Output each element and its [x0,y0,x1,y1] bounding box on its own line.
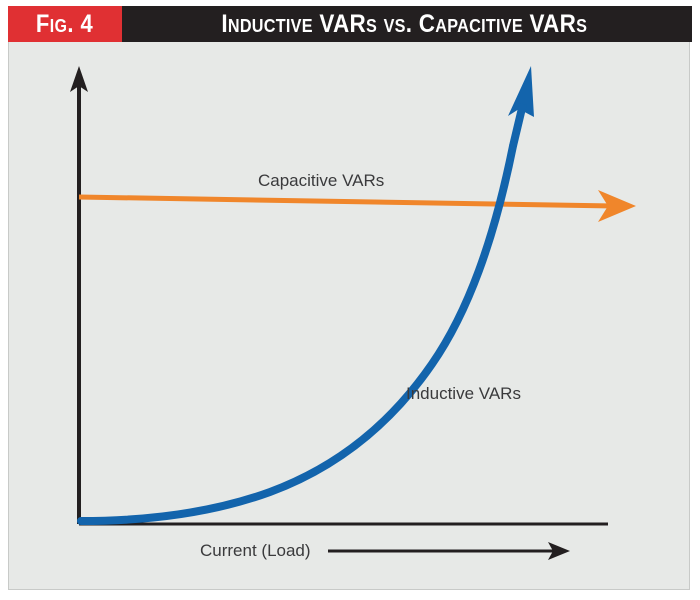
capacitive-vars-label: Capacitive VARs [258,172,384,189]
x-axis-label: Current (Load) [200,542,311,559]
figure-title: Inductive VARs vs. Capacitive VARs [221,12,587,37]
figure-title-bar: Fig. 4 Inductive VARs vs. Capacitive VAR… [8,6,692,42]
inductive-vars-label: Inductive VARs [406,385,521,402]
chart-panel [8,42,690,590]
figure-container: Fig. 4 Inductive VARs vs. Capacitive VAR… [0,0,700,600]
figure-number-badge: Fig. 4 [8,6,122,42]
figure-number-label: Fig. 4 [36,12,93,37]
figure-title-wrap: Inductive VARs vs. Capacitive VARs [122,6,692,42]
